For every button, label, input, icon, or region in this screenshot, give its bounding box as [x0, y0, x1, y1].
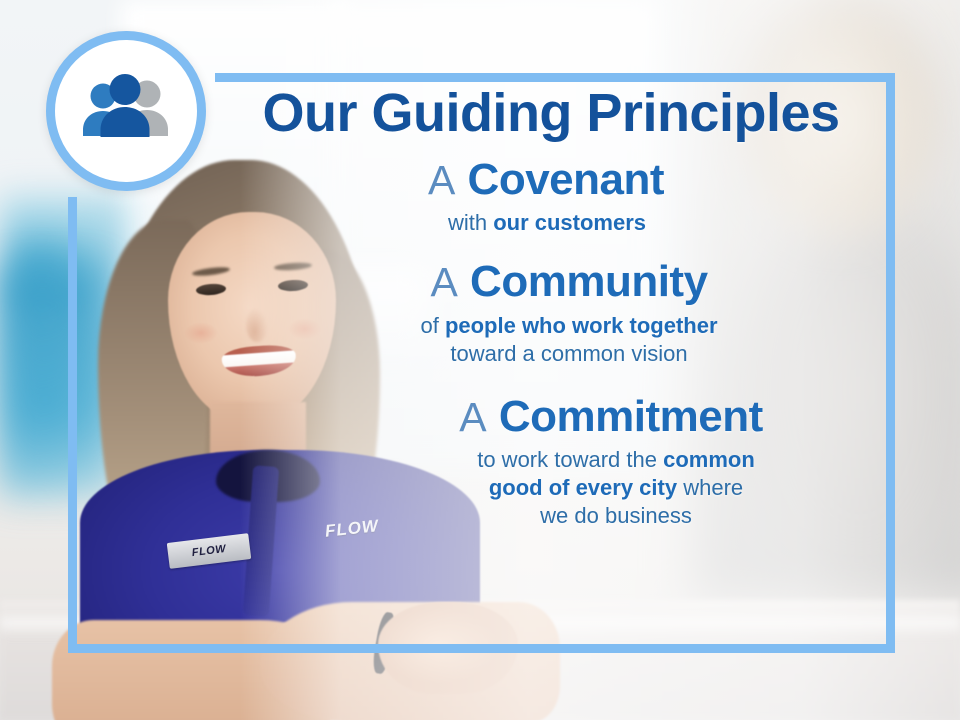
- principle-covenant: A Covenant with our customers: [215, 157, 887, 237]
- principle-keyword: Community: [470, 257, 708, 306]
- principle-description: of people who work togethertoward a comm…: [215, 312, 887, 368]
- principle-community: A Community of people who work togethert…: [215, 259, 887, 368]
- principle-keyword: Commitment: [499, 392, 763, 441]
- principle-title: A Community: [215, 259, 887, 305]
- principle-keyword: Covenant: [468, 155, 664, 204]
- principle-article: A: [430, 259, 457, 305]
- people-group-badge: [46, 31, 206, 191]
- name-badge-text: FLOW: [191, 543, 227, 559]
- principle-article: A: [459, 394, 486, 440]
- principle-title: A Covenant: [215, 157, 887, 203]
- people-group-icon: [74, 74, 178, 148]
- principle-description: to work toward the commongood of every c…: [215, 446, 887, 530]
- page-title: Our Guiding Principles: [215, 86, 887, 141]
- banner-content: Our Guiding Principles A Covenant with o…: [215, 86, 887, 531]
- principle-description: with our customers: [215, 209, 887, 237]
- principle-commitment: A Commitment to work toward the commongo…: [215, 394, 887, 531]
- subject-cheek-left: [184, 322, 218, 344]
- principle-article: A: [428, 157, 455, 203]
- principle-title: A Commitment: [215, 394, 887, 440]
- promotional-banner: FLOW FLOW: [0, 0, 960, 720]
